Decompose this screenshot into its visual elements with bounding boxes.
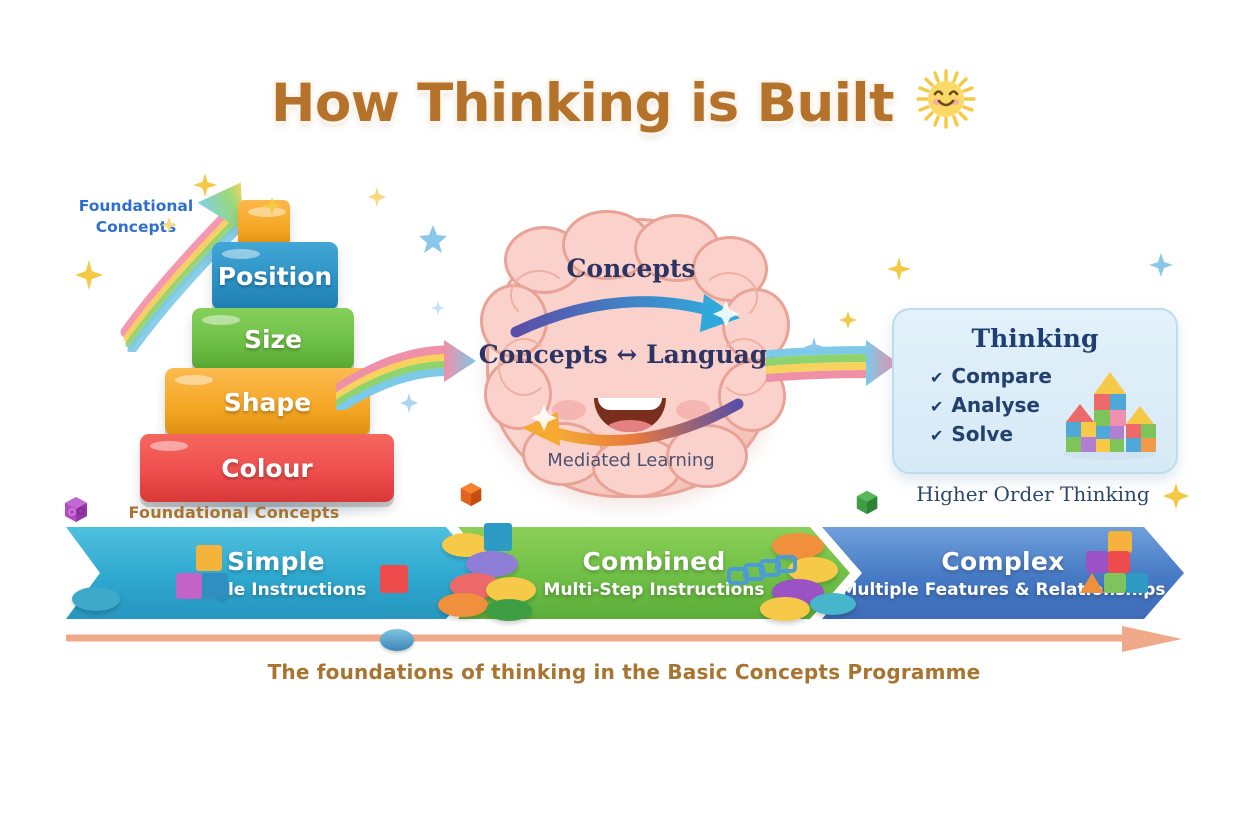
yellow-star-icon — [366, 186, 388, 208]
toy-disc — [810, 593, 856, 615]
simple-red-block-icon — [378, 563, 412, 597]
blue-star-icon — [398, 392, 420, 414]
block-gloss — [202, 315, 240, 325]
check-icon: ✔ — [930, 368, 943, 387]
check-icon: ✔ — [930, 426, 943, 445]
interlocking-chain-icon — [726, 555, 802, 595]
orange-cube-icon — [458, 480, 484, 512]
yellow-star-icon — [192, 172, 218, 198]
rainbow-arrow-brain-to-thinking-icon — [766, 332, 906, 402]
yellow-star-icon — [262, 196, 282, 216]
thinking-card-list: ✔Compare ✔Analyse ✔Solve — [930, 364, 1052, 451]
foundational-concepts-bottom-label: Foundational Concepts — [104, 503, 364, 522]
higher-order-thinking-label: Higher Order Thinking — [892, 482, 1174, 506]
segment-complex-title: Complex — [941, 547, 1064, 576]
block-gloss — [222, 249, 260, 259]
complex-toy-blocks-icon — [1078, 531, 1148, 593]
blue-star-icon — [418, 224, 448, 254]
block-gloss — [175, 375, 213, 385]
segment-combined-title: Combined — [582, 547, 725, 576]
green-cube-icon — [854, 488, 880, 520]
progression-direction-arrow-icon — [66, 626, 1184, 652]
footer-caption: The foundations of thinking in the Basic… — [0, 660, 1248, 684]
yellow-star-icon — [72, 258, 106, 292]
blue-star-icon — [430, 300, 446, 316]
purple-cube-icon — [62, 494, 90, 528]
brain-mediated-learning-label: Mediated Learning — [486, 450, 776, 471]
toy-disc — [380, 629, 414, 651]
thinking-item-compare-label: Compare — [951, 364, 1052, 388]
thinking-item-solve: ✔Solve — [930, 422, 1052, 446]
brain-concepts-language-label: Concepts ↔ Language — [460, 340, 802, 369]
thinking-item-solve-label: Solve — [951, 422, 1013, 446]
blue-star-icon — [1148, 252, 1174, 278]
thinking-item-analyse: ✔Analyse — [930, 393, 1052, 417]
combined-blue-block-icon — [482, 521, 516, 555]
blue-star-icon — [802, 336, 826, 360]
toy-disc — [760, 597, 810, 621]
yellow-star-icon — [160, 216, 178, 234]
position-block-label: Position — [218, 262, 332, 291]
size-block: Size — [192, 308, 354, 370]
toy-disc — [72, 587, 120, 611]
check-icon: ✔ — [930, 397, 943, 416]
position-block: Position — [212, 242, 338, 310]
toy-disc — [486, 599, 532, 621]
block-gloss — [150, 441, 188, 451]
thinking-item-analyse-label: Analyse — [951, 393, 1040, 417]
progression-segment-simple[interactable]: Simple Single Instructions — [66, 527, 486, 619]
brain-concepts-label: Concepts — [486, 254, 776, 283]
infographic-canvas: How Thinking is Built — [0, 0, 1248, 832]
shape-block-label: Shape — [224, 388, 312, 417]
size-block-label: Size — [244, 325, 302, 354]
language-to-concepts-arrow-icon — [510, 386, 754, 452]
sun-smiling-icon — [915, 68, 977, 134]
yellow-star-icon — [838, 310, 858, 330]
yellow-star-icon — [1162, 482, 1190, 510]
colour-block: Colour — [140, 434, 394, 502]
thinking-card[interactable]: Thinking ✔Compare ✔Analyse ✔Solve — [892, 308, 1178, 474]
thinking-item-compare: ✔Compare — [930, 364, 1052, 388]
page-title-row: How Thinking is Built — [0, 68, 1248, 138]
simple-toy-blocks-icon — [170, 543, 242, 605]
yellow-star-icon — [886, 256, 912, 282]
toy-disc — [438, 593, 488, 617]
colour-block-label: Colour — [221, 454, 312, 483]
building-blocks-illustration — [1054, 364, 1164, 460]
progression-banner: Simple Single Instructions Combined Mult… — [66, 527, 1184, 619]
page-title: How Thinking is Built — [271, 73, 894, 134]
thinking-card-title: Thinking — [894, 324, 1176, 353]
concepts-to-language-arrow-icon — [508, 282, 754, 346]
brain-illustration: Concepts Concepts ↔ Language Mediated Le… — [486, 218, 776, 498]
